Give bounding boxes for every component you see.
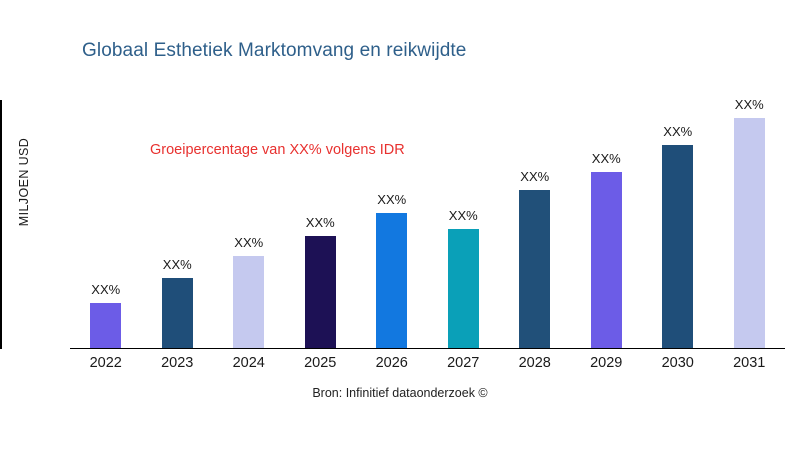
bar-value-label: XX% [520,169,549,184]
bar-2029 [591,172,622,348]
x-tick-label-2029: 2029 [590,355,622,371]
bar-2023 [162,278,193,348]
bar-2030 [662,145,693,348]
y-axis-spine [0,100,2,349]
x-tick-label-2025: 2025 [304,355,336,371]
bar-2025 [305,236,336,348]
x-tick-label-2024: 2024 [233,355,265,371]
source-caption: Bron: Infinitief dataonderzoek © [0,386,800,400]
x-tick-label-2030: 2030 [662,355,694,371]
bar-2022 [90,303,121,348]
bar-value-label: XX% [234,235,263,250]
x-tick-label-2026: 2026 [376,355,408,371]
bar-value-label: XX% [163,257,192,272]
bar-value-label: XX% [91,282,120,297]
bar-value-label: XX% [377,192,406,207]
x-tick-label-2028: 2028 [519,355,551,371]
bar-value-label: XX% [449,208,478,223]
chart-title: Globaal Esthetiek Marktomvang en reikwij… [82,40,466,62]
x-tick-label-2023: 2023 [161,355,193,371]
bar-2026 [376,213,407,348]
bar-value-label: XX% [735,97,764,112]
bar-2031 [734,118,765,348]
y-axis-label: MILJOEN USD [17,122,31,242]
bar-2028 [519,190,550,348]
chart-container: Globaal Esthetiek Marktomvang en reikwij… [0,0,800,450]
x-tick-label-2027: 2027 [447,355,479,371]
bar-value-label: XX% [663,124,692,139]
x-tick-label-2022: 2022 [90,355,122,371]
bar-value-label: XX% [592,151,621,166]
bar-2024 [233,256,264,348]
bar-2027 [448,229,479,348]
x-tick-label-2031: 2031 [733,355,765,371]
bar-value-label: XX% [306,215,335,230]
